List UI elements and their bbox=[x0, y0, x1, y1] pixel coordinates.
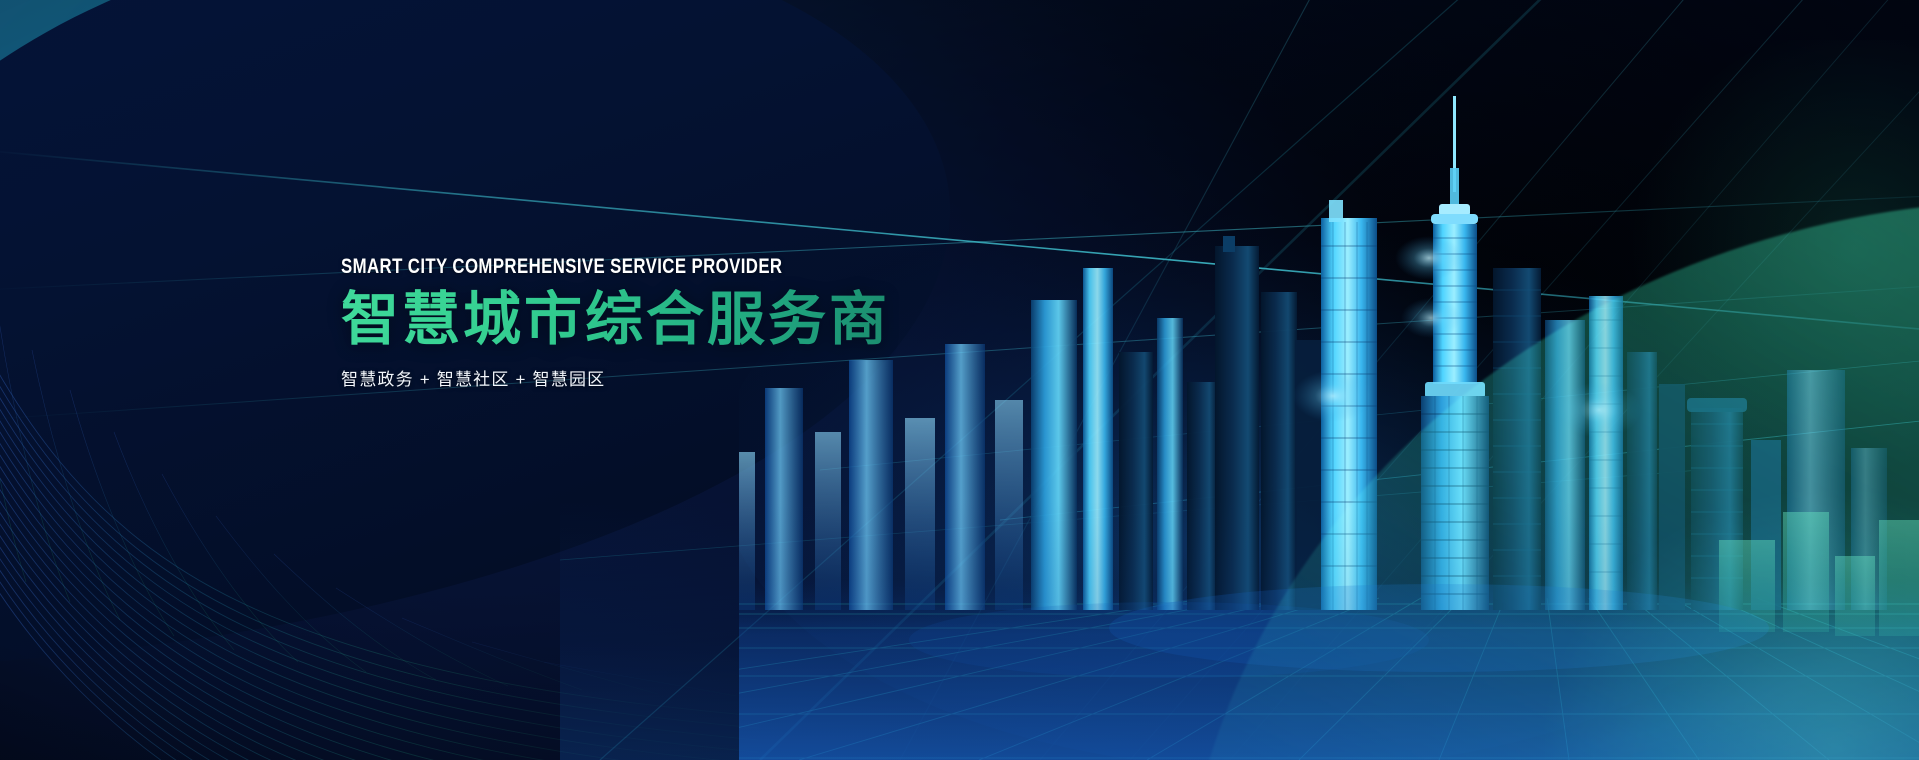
green-corner-glow bbox=[1459, 460, 1919, 760]
hero-text-block: SMART CITY COMPREHENSIVE SERVICE PROVIDE… bbox=[341, 255, 981, 390]
hero-tagline-english: SMART CITY COMPREHENSIVE SERVICE PROVIDE… bbox=[341, 255, 853, 278]
hero-headline-chinese: 智慧城市综合服务商 bbox=[341, 289, 981, 350]
hero-subtitle-chinese: 智慧政务 + 智慧社区 + 智慧园区 bbox=[341, 365, 981, 390]
smart-city-hero-banner: SMART CITY COMPREHENSIVE SERVICE PROVIDE… bbox=[0, 0, 1919, 760]
